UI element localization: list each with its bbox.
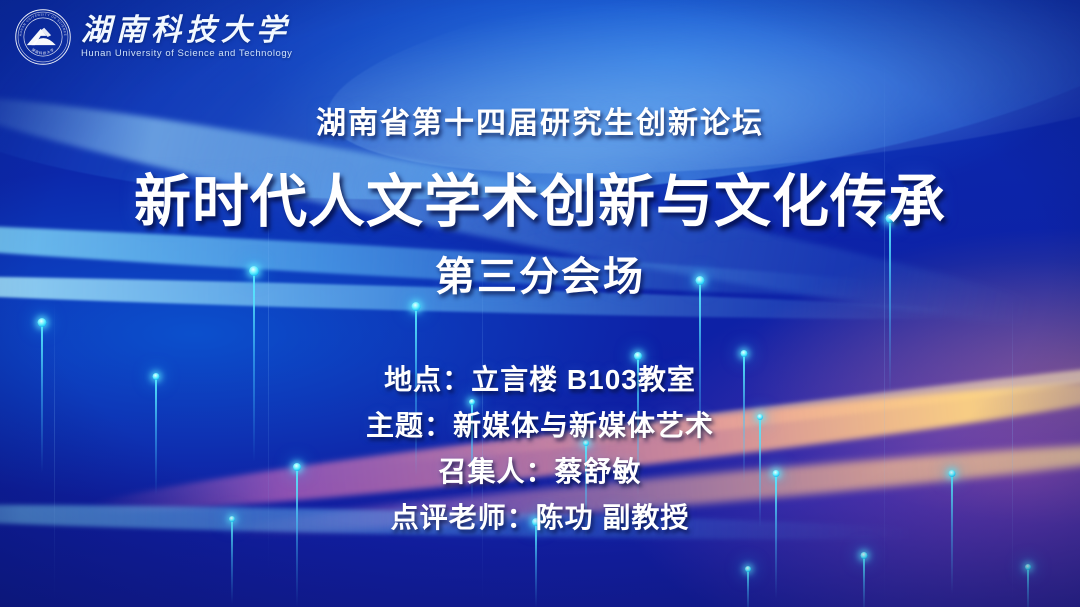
forum-subhead: 第三分会场 [435, 244, 645, 302]
presentation-slide: HUNAN UNIVERSITY OF SCIENCE 湖南科技大学 湖南科技大… [0, 0, 1080, 607]
detail-line-location: 地点：立言楼 B103教室 [384, 358, 696, 398]
detail-line-topic: 主题：新媒体与新媒体艺术 [366, 404, 714, 444]
detail-line-convener: 召集人：蔡舒敏 [438, 450, 641, 490]
forum-headline: 新时代人文学术创新与文化传承 [134, 156, 946, 238]
session-details: 地点：立言楼 B103教室主题：新媒体与新媒体艺术召集人：蔡舒敏点评老师：陈功 … [366, 358, 714, 536]
slide-content: 湖南省第十四届研究生创新论坛 新时代人文学术创新与文化传承 第三分会场 地点：立… [0, 0, 1080, 607]
detail-line-commentator: 点评老师：陈功 副教授 [391, 496, 690, 536]
forum-kicker: 湖南省第十四届研究生创新论坛 [316, 98, 764, 142]
